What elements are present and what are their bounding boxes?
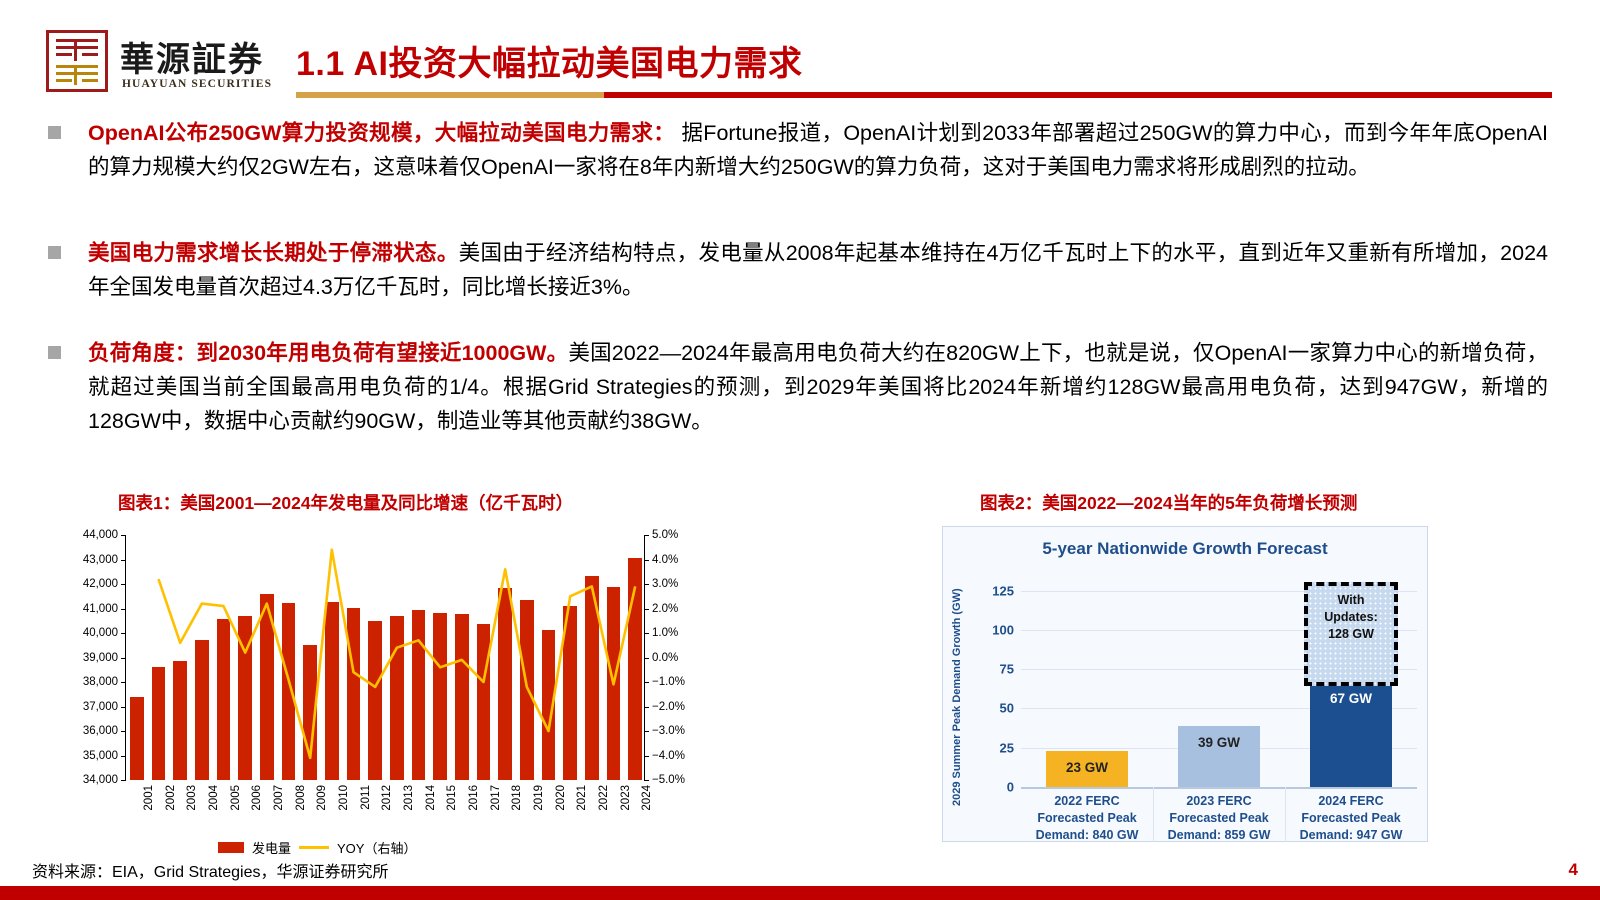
legend-label-bar: 发电量: [252, 838, 291, 857]
bullet-2-body: 美国电力需求增长长期处于停滞状态。美国由于经济结构特点，发电量从2008年起基本…: [88, 236, 1548, 304]
figure-2-y-tick: 50: [1000, 701, 1021, 716]
figure-2-y-tick: 75: [1000, 662, 1021, 677]
figure-2-x-tick-line: Forecasted Peak: [1277, 810, 1425, 827]
figure-1-x-tick: 2002: [165, 785, 177, 811]
source-note: 资料来源：EIA，Grid Strategies，华源证券研究所: [32, 858, 389, 882]
figure-1: 图表1：美国2001—2024年发电量及同比增速（亿千瓦时） 34,00035,…: [40, 480, 720, 870]
figure-1-x-tick: 2009: [316, 785, 328, 811]
figure-2-x-tick: 2023 FERCForecasted PeakDemand: 859 GW: [1145, 793, 1293, 844]
bullet-2-highlight: 美国电力需求增长长期处于停滞状态。: [88, 241, 459, 265]
figure-1-y-tick: 39,000: [83, 652, 126, 664]
figure-1-y2-tick: −4.0%: [644, 750, 685, 762]
figure-1-x-tick: 2022: [598, 785, 610, 811]
figure-1-y-tick: 38,000: [83, 676, 126, 688]
title-rule-red: [604, 92, 1552, 98]
figure-2-x-tick-line: Demand: 859 GW: [1145, 827, 1293, 844]
figure-2-x-tick-line: Demand: 947 GW: [1277, 827, 1425, 844]
huayuan-logo-icon: [46, 30, 108, 92]
footer-bar: [0, 886, 1600, 900]
figure-1-y2-tick: −2.0%: [644, 701, 685, 713]
figure-2-bar-value-label: 67 GW: [1310, 691, 1392, 706]
figure-1-x-tick: 2007: [273, 785, 285, 811]
figure-1-y2-tick: 0.0%: [644, 652, 678, 664]
figure-2-heading: 5-year Nationwide Growth Forecast: [943, 539, 1427, 559]
figure-1-plot-area: 34,00035,00036,00037,00038,00039,00040,0…: [125, 535, 645, 780]
figure-1-caption: 图表1：美国2001—2024年发电量及同比增速（亿千瓦时）: [118, 490, 573, 515]
bullet-square-icon: [48, 126, 61, 139]
bullet-item-2: 美国电力需求增长长期处于停滞状态。美国由于经济结构特点，发电量从2008年起基本…: [48, 236, 1548, 304]
slide: 華源証券 HUAYUAN SECURITIES 1.1 AI投资大幅拉动美国电力…: [0, 0, 1600, 900]
figure-1-x-tick: 2004: [208, 785, 220, 811]
figure-1-y2-tick: 5.0%: [644, 529, 678, 541]
figure-2-annotation-line: Updates:: [1308, 609, 1394, 626]
figure-2-annotation-line: 128 GW: [1308, 626, 1394, 643]
figure-1-x-tick: 2006: [251, 785, 263, 811]
figure-1-x-tick: 2017: [490, 785, 502, 811]
legend-swatch-bar: [218, 842, 244, 853]
brand-name-cn: 華源証券: [120, 32, 264, 81]
figure-1-y2-tick: 2.0%: [644, 603, 678, 615]
figure-1-y-tick: 44,000: [83, 529, 126, 541]
figure-2-panel: 5-year Nationwide Growth Forecast 2029 S…: [942, 526, 1428, 842]
figure-1-y-tick: 36,000: [83, 725, 126, 737]
figure-2-x-tick: 2024 FERCForecasted PeakDemand: 947 GW: [1277, 793, 1425, 844]
figure-1-y-tick: 35,000: [83, 750, 126, 762]
figure-1-y2-tick: −1.0%: [644, 676, 685, 688]
bullet-1-body: OpenAI公布250GW算力投资规模，大幅拉动美国电力需求： 据Fortune…: [88, 116, 1548, 184]
bullet-square-icon: [48, 246, 61, 259]
figure-1-y-tick: 37,000: [83, 701, 126, 713]
brand-name-en: HUAYUAN SECURITIES: [122, 78, 272, 90]
figure-1-y-tick: 40,000: [83, 627, 126, 639]
figure-2-annotation-line: With: [1308, 592, 1394, 609]
figure-1-y2-tick: 1.0%: [644, 627, 678, 639]
figure-2-x-tick-line: 2024 FERC: [1277, 793, 1425, 810]
figure-1-y-tick: 42,000: [83, 578, 126, 590]
figure-1-x-tick: 2020: [555, 785, 567, 811]
figure-2-column-separator: [1153, 787, 1154, 842]
figure-2-x-tick-line: Forecasted Peak: [1013, 810, 1161, 827]
figure-1-x-tick: 2014: [425, 785, 437, 811]
figure-1-y-tick: 43,000: [83, 554, 126, 566]
figure-1-x-tick: 2008: [295, 785, 307, 811]
figure-1-x-tick: 2003: [186, 785, 198, 811]
figure-2-y-tick: 125: [992, 583, 1021, 598]
figure-2-x-tick: 2022 FERCForecasted PeakDemand: 840 GW: [1013, 793, 1161, 844]
figure-2-bar-value-label: 39 GW: [1178, 735, 1260, 750]
figure-1-x-tick: 2016: [468, 785, 480, 811]
bullet-item-3: 负荷角度：到2030年用电负荷有望接近1000GW。美国2022—2024年最高…: [48, 336, 1548, 438]
figure-2-caption: 图表2：美国2022—2024当年的5年负荷增长预测: [980, 490, 1357, 515]
figure-1-y-tick: 34,000: [83, 774, 126, 786]
figure-1-yoy-line: [126, 535, 646, 780]
bullet-1-highlight: OpenAI公布250GW算力投资规模，大幅拉动美国电力需求：: [88, 121, 675, 145]
slide-header: 華源証券 HUAYUAN SECURITIES 1.1 AI投资大幅拉动美国电力…: [0, 0, 1600, 105]
figure-2: 图表2：美国2022—2024当年的5年负荷增长预测 5-year Nation…: [930, 480, 1490, 870]
figure-1-x-tick: 2015: [446, 785, 458, 811]
figure-1-x-tick: 2012: [381, 785, 393, 811]
figure-2-x-tick-line: 2023 FERC: [1145, 793, 1293, 810]
legend-swatch-line: [299, 846, 329, 849]
figure-1-x-tick: 2011: [360, 785, 372, 810]
figure-2-x-tick-line: Demand: 840 GW: [1013, 827, 1161, 844]
figure-1-x-tick: 2023: [620, 785, 632, 811]
page-number: 4: [1569, 860, 1578, 880]
figure-2-bar-value-label: 23 GW: [1046, 760, 1128, 775]
figure-2-y-tick: 100: [992, 622, 1021, 637]
figure-2-axis-line: [1021, 787, 1417, 789]
figure-2-annotation-box: WithUpdates:128 GW: [1304, 582, 1398, 686]
figure-2-y-axis-label: 2029 Summer Peak Demand Growth (GW): [947, 577, 967, 817]
figure-1-y2-tick: −3.0%: [644, 725, 685, 737]
figure-2-plot-area: 025507510012523 GW39 GW67 GWWithUpdates:…: [1021, 575, 1417, 787]
bullet-3-highlight: 负荷角度：到2030年用电负荷有望接近1000GW。: [88, 341, 568, 365]
figure-1-x-tick: 2001: [143, 785, 155, 811]
legend-label-line: YOY（右轴）: [337, 838, 416, 857]
brand-logo: 華源証券 HUAYUAN SECURITIES: [46, 30, 288, 102]
figure-1-x-tick: 2019: [533, 785, 545, 811]
figure-1-x-tick: 2018: [511, 785, 523, 811]
figure-1-x-tick: 2010: [338, 785, 350, 811]
page-title: 1.1 AI投资大幅拉动美国电力需求: [296, 36, 802, 85]
figure-2-x-tick-line: Forecasted Peak: [1145, 810, 1293, 827]
bullet-item-1: OpenAI公布250GW算力投资规模，大幅拉动美国电力需求： 据Fortune…: [48, 116, 1548, 184]
figure-1-x-tick: 2005: [230, 785, 242, 811]
figure-1-y2-tick: 4.0%: [644, 554, 678, 566]
bullet-3-body: 负荷角度：到2030年用电负荷有望接近1000GW。美国2022—2024年最高…: [88, 336, 1548, 438]
figure-1-x-tick: 2021: [576, 785, 588, 811]
figure-1-x-tick: 2024: [641, 785, 653, 811]
figure-2-y-tick: 25: [1000, 740, 1021, 755]
figure-2-x-tick-line: 2022 FERC: [1013, 793, 1161, 810]
figure-1-y2-tick: 3.0%: [644, 578, 678, 590]
title-rule-gold: [296, 92, 604, 98]
figure-1-x-tick: 2013: [403, 785, 415, 811]
figure-1-legend: 发电量 YOY（右轴）: [218, 838, 416, 857]
bullet-square-icon: [48, 346, 61, 359]
figure-2-annotation-label: WithUpdates:128 GW: [1308, 592, 1394, 643]
figure-2-column-separator: [1285, 787, 1286, 842]
figure-1-y-tick: 41,000: [83, 603, 126, 615]
